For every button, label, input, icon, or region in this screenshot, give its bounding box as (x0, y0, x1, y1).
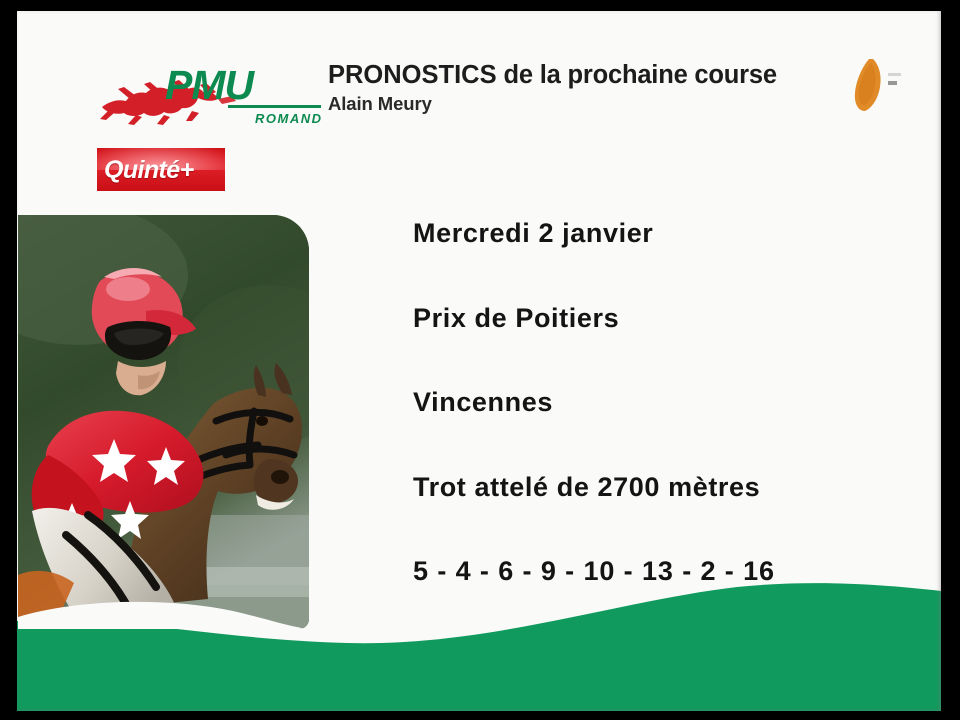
pmu-sub-wordmark: ROMAND (255, 111, 323, 126)
jockey-horse-photo (18, 215, 309, 629)
racecourse: Vincennes (413, 386, 923, 471)
orange-flame-icon (845, 55, 915, 117)
author-name: Alain Meury (328, 93, 868, 115)
race-name: Prix de Poitiers (413, 302, 923, 387)
broadcast-screen: PMU ROMAND PRONOSTICS de la prochaine co… (0, 0, 960, 720)
page-title: PRONOSTICS de la prochaine course (328, 61, 868, 90)
pmu-wordmark: PMU (165, 62, 256, 108)
page-title-strong: PRONOSTICS (328, 61, 497, 89)
pmu-logo-graphic: PMU ROMAND (100, 55, 325, 133)
slide-card: PMU ROMAND PRONOSTICS de la prochaine co… (17, 11, 941, 711)
photo-illustration (18, 215, 309, 629)
race-date: Mercredi 2 janvier (413, 217, 923, 302)
race-type: Trot attelé de 2700 mètres (413, 471, 923, 556)
quinte-plus-label: Quinté+ (104, 156, 222, 185)
page-title-rest: de la prochaine course (497, 61, 777, 89)
race-info-block: Mercredi 2 janvier Prix de Poitiers Vinc… (413, 217, 923, 640)
quinte-plus-badge[interactable]: Quinté+ (97, 148, 225, 191)
pmu-logo[interactable]: PMU ROMAND (100, 55, 325, 133)
logo-rule (228, 105, 321, 108)
race-picks: 5 - 4 - 6 - 9 - 10 - 13 - 2 - 16 (413, 555, 923, 640)
header-text-block: PRONOSTICS de la prochaine course Alain … (328, 61, 868, 115)
